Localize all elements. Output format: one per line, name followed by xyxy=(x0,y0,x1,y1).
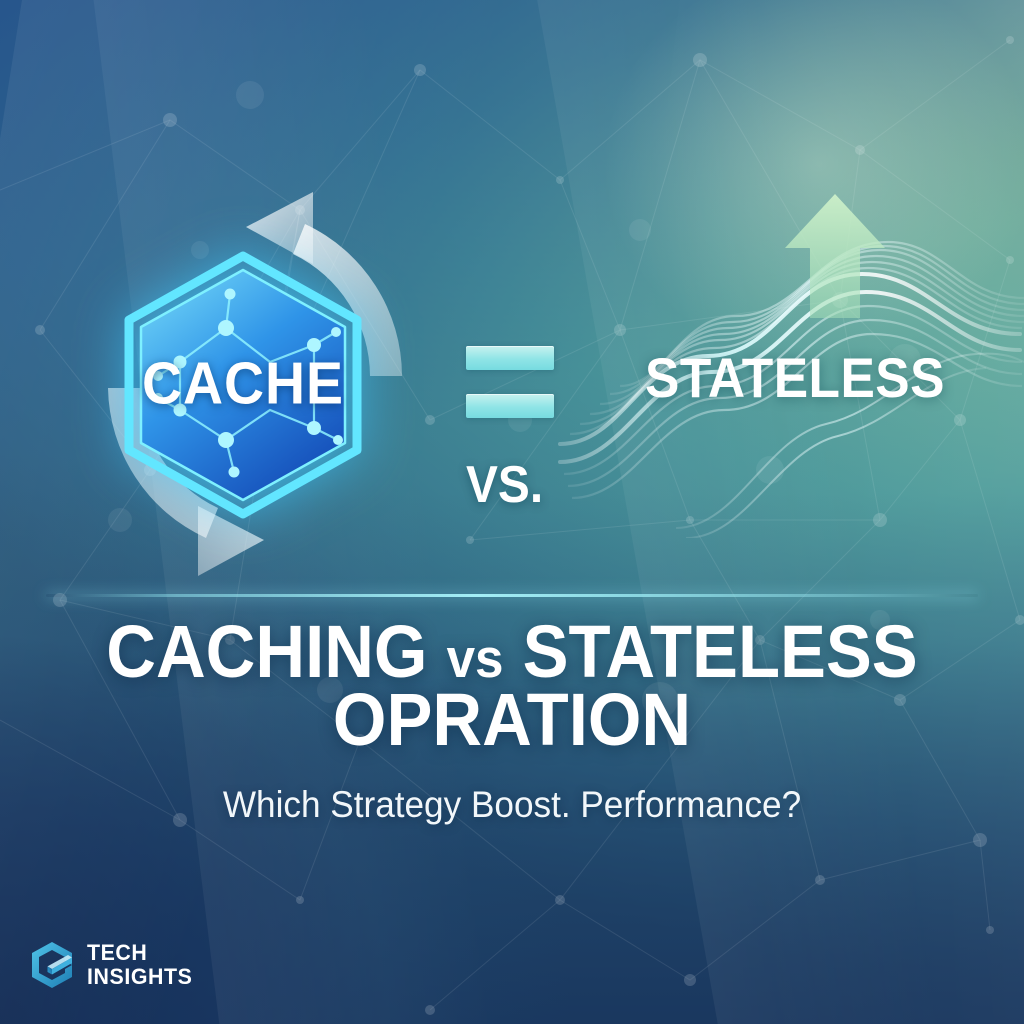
page-subtitle: Which Strategy Boost. Performance? xyxy=(26,784,999,826)
cache-badge[interactable]: CACHE xyxy=(118,250,368,520)
equals-bar-top xyxy=(466,346,554,370)
headline-block: CACHING vs STATELESS OPRATION Which Stra… xyxy=(0,618,1024,826)
poster-canvas: CACHE VS. xyxy=(0,0,1024,1024)
stateless-label: STATELESS xyxy=(645,345,945,410)
hero-graphics: CACHE VS. xyxy=(0,0,1024,594)
upward-arrow-icon xyxy=(780,190,890,320)
brand-name-line-2: INSIGHTS xyxy=(87,965,192,989)
brand-name-line-1: TECH xyxy=(87,940,147,965)
page-title: CACHING vs STATELESS OPRATION xyxy=(0,618,1024,754)
brand-name: TECH INSIGHTS xyxy=(87,941,192,989)
tech-insights-cube-logo-icon xyxy=(30,941,74,989)
equals-symbol xyxy=(466,346,554,418)
vs-label: VS. xyxy=(466,455,543,515)
equals-bar-bottom xyxy=(466,394,554,418)
cache-badge-label: CACHE xyxy=(126,350,361,418)
title-line-2: OPRATION xyxy=(36,686,988,754)
brand-logo[interactable]: TECH INSIGHTS xyxy=(30,941,196,989)
section-divider xyxy=(46,594,978,597)
title-line-1: CACHING vs STATELESS xyxy=(36,618,988,686)
